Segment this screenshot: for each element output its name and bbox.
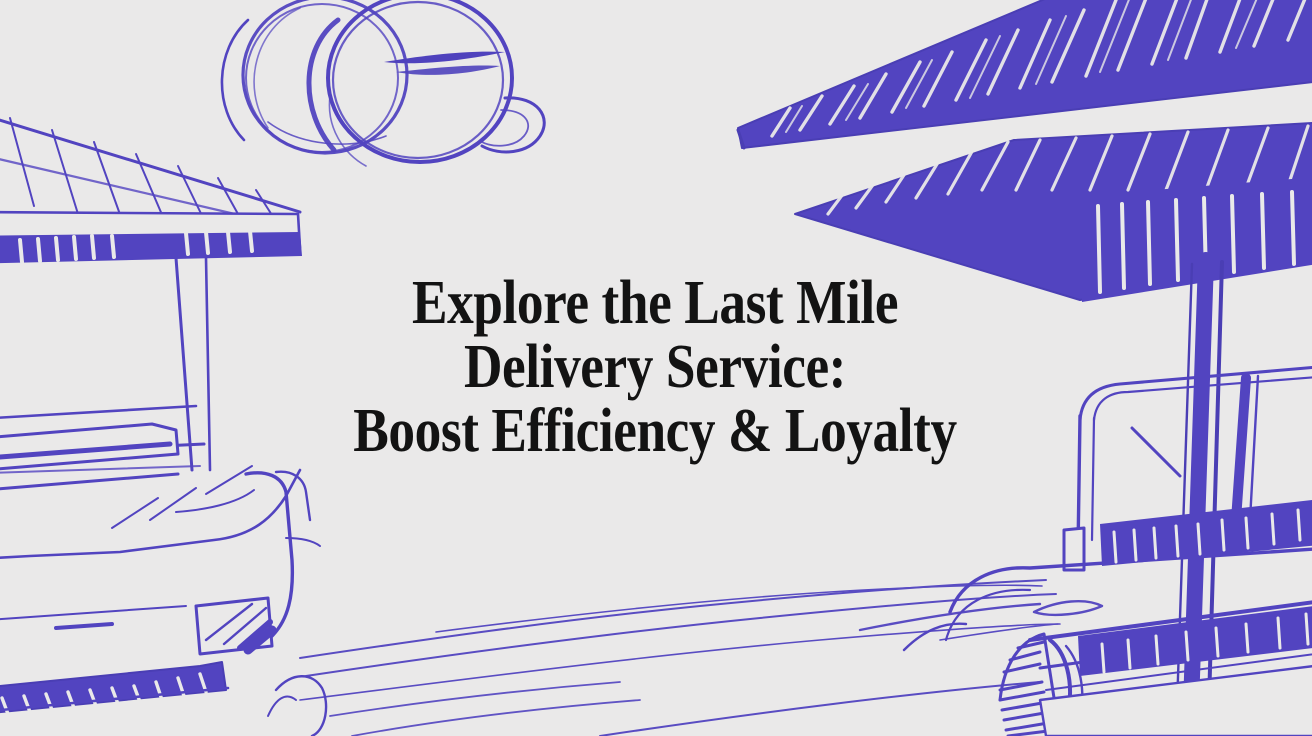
sketch-illustration [0, 0, 1312, 736]
hero-banner: Explore the Last Mile Delivery Service: … [0, 0, 1312, 736]
